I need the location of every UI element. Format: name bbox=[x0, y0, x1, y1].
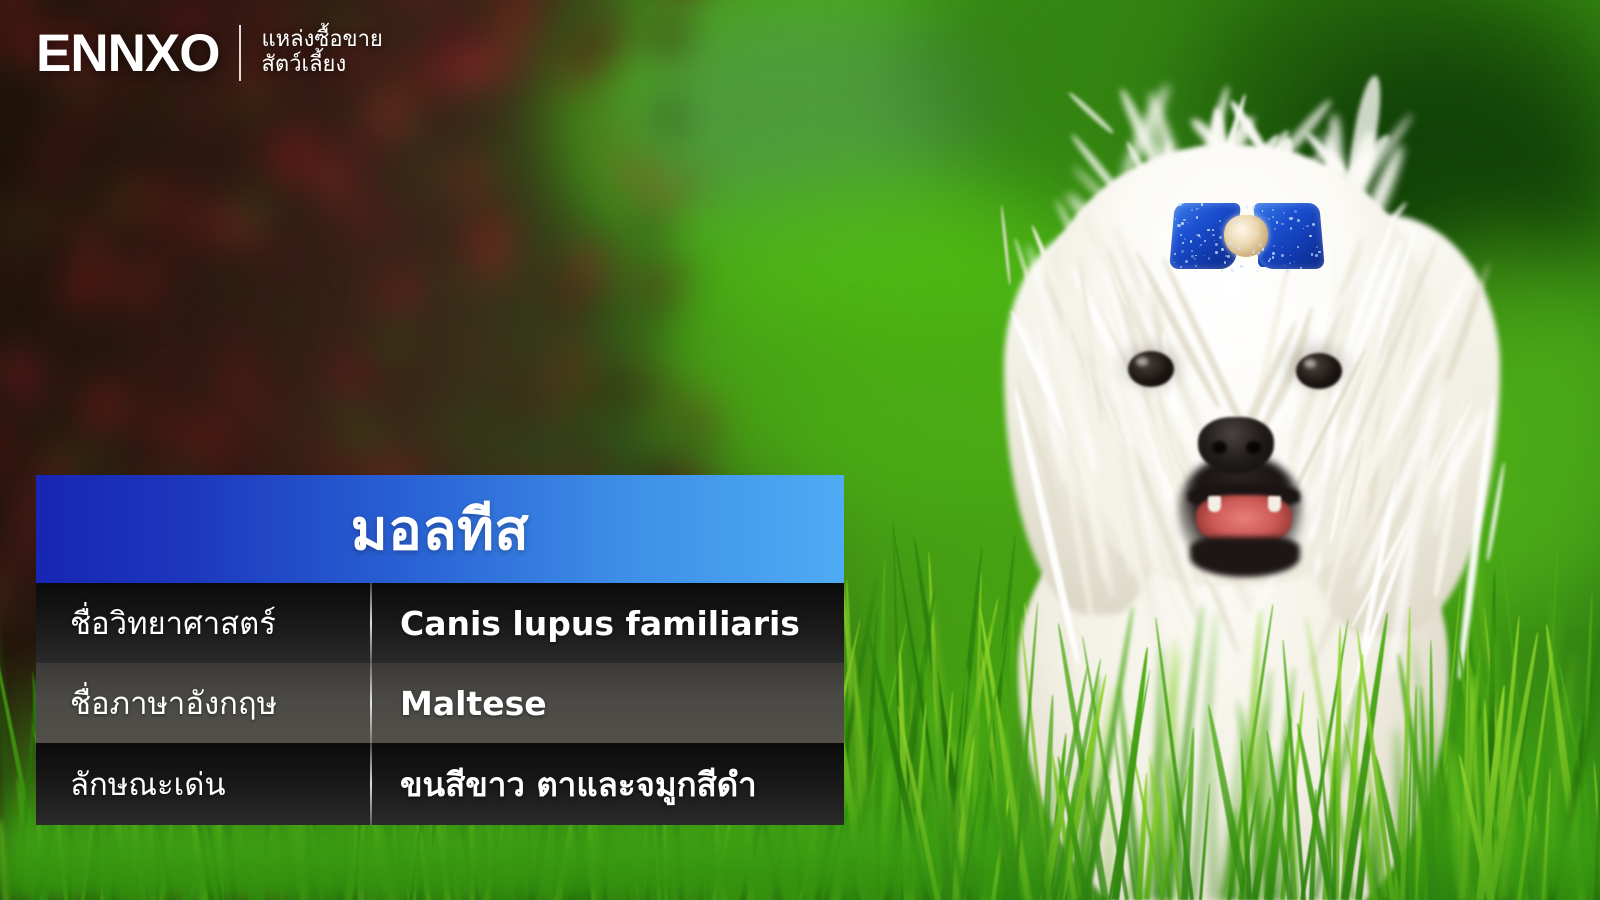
dog-eye-highlight-right bbox=[1304, 359, 1316, 368]
dog-tooth bbox=[1268, 496, 1281, 512]
column-divider bbox=[370, 663, 372, 743]
maltese-dog bbox=[930, 55, 1550, 900]
logo-tagline-line1: แหล่งซื้อขาย bbox=[261, 28, 382, 53]
dog-nostril-right bbox=[1246, 441, 1261, 454]
dog-eye-highlight-left bbox=[1136, 357, 1148, 366]
row-value: ขนสีขาว ตาและจมูกสีดำ bbox=[370, 758, 844, 811]
dog-nose bbox=[1198, 417, 1274, 473]
brand-logo[interactable]: ENNXO แหล่งซื้อขาย สัตว์เลี้ยง bbox=[36, 25, 383, 81]
blue-bow-accessory bbox=[1172, 203, 1322, 271]
row-value: Maltese bbox=[370, 684, 844, 723]
logo-tagline-line2: สัตว์เลี้ยง bbox=[261, 53, 382, 78]
logo-tagline: แหล่งซื้อขาย สัตว์เลี้ยง bbox=[261, 28, 382, 77]
column-divider bbox=[370, 743, 372, 825]
column-divider bbox=[370, 583, 372, 663]
table-row: ชื่อภาษาอังกฤษ Maltese bbox=[36, 663, 844, 743]
table-row: ลักษณะเด่น ขนสีขาว ตาและจมูกสีดำ bbox=[36, 743, 844, 825]
dog-tooth bbox=[1208, 496, 1221, 512]
breed-title: มอลทีส bbox=[351, 485, 529, 574]
breed-info-card: มอลทีส ชื่อวิทยาศาสตร์ Canis lupus famil… bbox=[36, 475, 844, 825]
dog-head bbox=[960, 55, 1520, 615]
row-label: ชื่อวิทยาศาสตร์ bbox=[36, 598, 370, 648]
table-row: ชื่อวิทยาศาสตร์ Canis lupus familiaris bbox=[36, 583, 844, 663]
row-value: Canis lupus familiaris bbox=[370, 604, 844, 643]
logo-divider bbox=[239, 25, 241, 81]
row-label: ลักษณะเด่น bbox=[36, 759, 370, 809]
bow-gem-knot bbox=[1224, 215, 1268, 257]
dog-eye-left bbox=[1128, 351, 1174, 387]
logo-wordmark: ENNXO bbox=[36, 27, 219, 80]
poster-stage: ENNXO แหล่งซื้อขาย สัตว์เลี้ยง มอลทีส ชื… bbox=[0, 0, 1600, 900]
card-header: มอลทีส bbox=[36, 475, 844, 583]
dog-eye-right bbox=[1296, 353, 1342, 389]
dog-nostril-left bbox=[1212, 441, 1227, 454]
dog-chin bbox=[1190, 537, 1300, 577]
row-label: ชื่อภาษาอังกฤษ bbox=[36, 678, 370, 728]
